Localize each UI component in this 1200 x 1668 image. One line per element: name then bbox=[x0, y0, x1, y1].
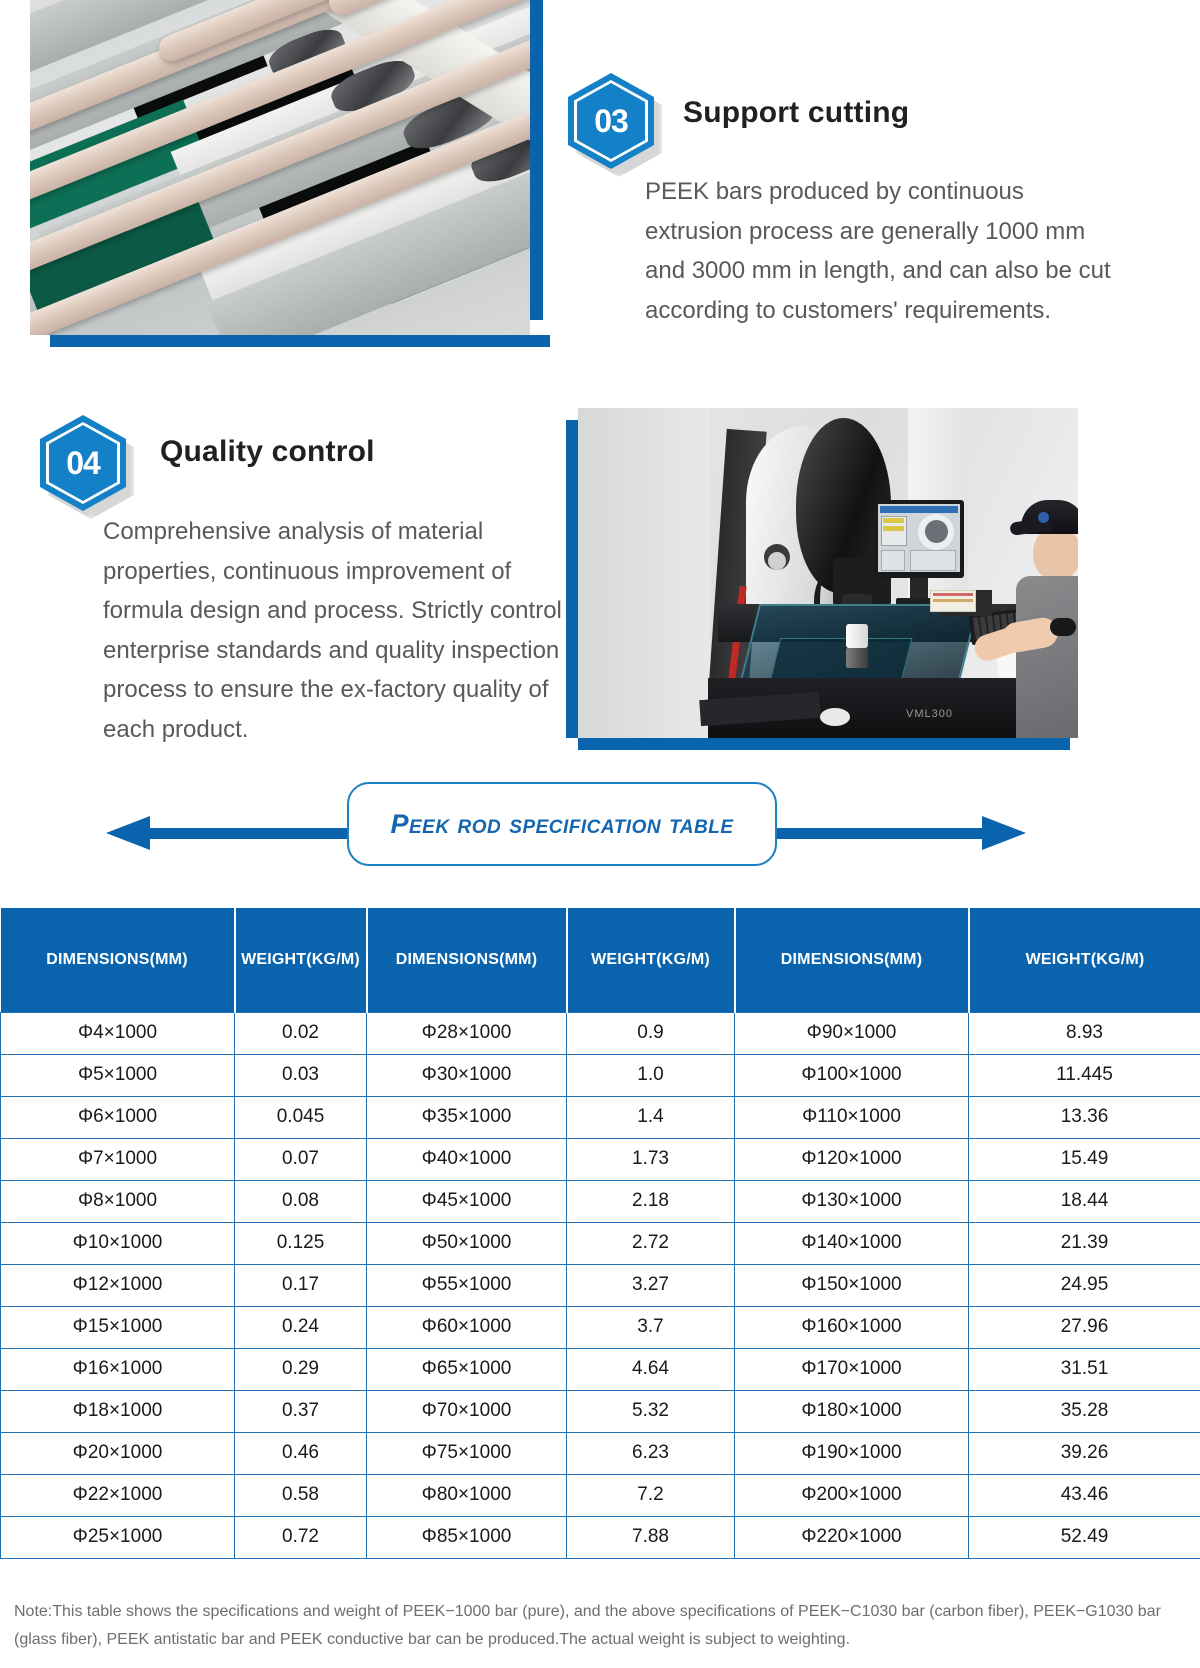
table-row: Φ4×10000.02Φ28×10000.9Φ90×10008.93 bbox=[1, 1012, 1200, 1054]
table-cell: 24.95 bbox=[969, 1264, 1200, 1306]
table-cell: 0.08 bbox=[235, 1180, 367, 1222]
table-cell: 0.24 bbox=[235, 1306, 367, 1348]
table-cell: Φ160×1000 bbox=[735, 1306, 969, 1348]
table-cell: Φ40×1000 bbox=[367, 1138, 567, 1180]
table-cell: 18.44 bbox=[969, 1180, 1200, 1222]
table-row: Φ15×10000.24Φ60×10003.7Φ160×100027.96 bbox=[1, 1306, 1200, 1348]
table-cell: 31.51 bbox=[969, 1348, 1200, 1390]
table-cell: Φ130×1000 bbox=[735, 1180, 969, 1222]
table-row: Φ20×10000.46Φ75×10006.23Φ190×100039.26 bbox=[1, 1432, 1200, 1474]
table-cell: Φ65×1000 bbox=[367, 1348, 567, 1390]
table-cell: Φ22×1000 bbox=[1, 1474, 235, 1516]
table-cell: 0.29 bbox=[235, 1348, 367, 1390]
table-cell: Φ200×1000 bbox=[735, 1474, 969, 1516]
table-header-cell: DIMENSIONS(MM) bbox=[1, 908, 235, 1012]
table-cell: Φ75×1000 bbox=[367, 1432, 567, 1474]
table-header-cell: WEIGHT(KG/M) bbox=[567, 908, 735, 1012]
peek-rods-photo-frame bbox=[30, 0, 530, 335]
table-cell: Φ8×1000 bbox=[1, 1180, 235, 1222]
table-row: Φ6×10000.045Φ35×10001.4Φ110×100013.36 bbox=[1, 1096, 1200, 1138]
table-cell: 43.46 bbox=[969, 1474, 1200, 1516]
table-cell: Φ100×1000 bbox=[735, 1054, 969, 1096]
table-cell: 7.2 bbox=[567, 1474, 735, 1516]
banner-pill: Peek rod specification table bbox=[347, 782, 777, 866]
table-header-cell: WEIGHT(KG/M) bbox=[969, 908, 1200, 1012]
table-cell: Φ28×1000 bbox=[367, 1012, 567, 1054]
table-cell: Φ20×1000 bbox=[1, 1432, 235, 1474]
table-cell: 39.26 bbox=[969, 1432, 1200, 1474]
table-cell: Φ25×1000 bbox=[1, 1516, 235, 1558]
banner-line-right bbox=[770, 828, 982, 839]
table-cell: Φ12×1000 bbox=[1, 1264, 235, 1306]
table-cell: Φ5×1000 bbox=[1, 1054, 235, 1096]
table-row: Φ16×10000.29Φ65×10004.64Φ170×100031.51 bbox=[1, 1348, 1200, 1390]
table-cell: 35.28 bbox=[969, 1390, 1200, 1432]
table-cell: Φ45×1000 bbox=[367, 1180, 567, 1222]
section-badge-04: 04 bbox=[40, 415, 126, 511]
table-cell: Φ85×1000 bbox=[367, 1516, 567, 1558]
table-cell: 2.72 bbox=[567, 1222, 735, 1264]
arrow-right-icon bbox=[982, 816, 1026, 850]
table-row: Φ5×10000.03Φ30×10001.0Φ100×100011.445 bbox=[1, 1054, 1200, 1096]
peek-rods-photo bbox=[30, 0, 530, 335]
table-cell: 8.93 bbox=[969, 1012, 1200, 1054]
table-cell: 0.125 bbox=[235, 1222, 367, 1264]
section-body-support-cutting: PEEK bars produced by continuous extrusi… bbox=[645, 172, 1120, 330]
table-cell: Φ140×1000 bbox=[735, 1222, 969, 1264]
table-cell: Φ10×1000 bbox=[1, 1222, 235, 1264]
table-cell: 0.46 bbox=[235, 1432, 367, 1474]
section-title-support-cutting: Support cutting bbox=[683, 96, 909, 130]
table-cell: Φ110×1000 bbox=[735, 1096, 969, 1138]
table-cell: 2.18 bbox=[567, 1180, 735, 1222]
table-cell: 13.36 bbox=[969, 1096, 1200, 1138]
table-cell: Φ70×1000 bbox=[367, 1390, 567, 1432]
table-row: Φ8×10000.08Φ45×10002.18Φ130×100018.44 bbox=[1, 1180, 1200, 1222]
banner-title: Peek rod specification table bbox=[390, 809, 733, 840]
table-cell: 1.4 bbox=[567, 1096, 735, 1138]
section-banner: Peek rod specification table bbox=[0, 782, 1200, 882]
table-cell: Φ170×1000 bbox=[735, 1348, 969, 1390]
arrow-left-icon bbox=[106, 816, 150, 850]
table-cell: 0.045 bbox=[235, 1096, 367, 1138]
photo2-bottom-accent-bar bbox=[578, 738, 1070, 750]
table-cell: Φ180×1000 bbox=[735, 1390, 969, 1432]
table-cell: Φ220×1000 bbox=[735, 1516, 969, 1558]
table-cell: Φ150×1000 bbox=[735, 1264, 969, 1306]
table-row: Φ7×10000.07Φ40×10001.73Φ120×100015.49 bbox=[1, 1138, 1200, 1180]
table-row: Φ18×10000.37Φ70×10005.32Φ180×100035.28 bbox=[1, 1390, 1200, 1432]
table-header-cell: DIMENSIONS(MM) bbox=[367, 908, 567, 1012]
table-cell: 4.64 bbox=[567, 1348, 735, 1390]
table-cell: 0.72 bbox=[235, 1516, 367, 1558]
table-cell: 0.9 bbox=[567, 1012, 735, 1054]
table-row: Φ25×10000.72Φ85×10007.88Φ220×100052.49 bbox=[1, 1516, 1200, 1558]
table-cell: Φ190×1000 bbox=[735, 1432, 969, 1474]
table-header-cell: WEIGHT(KG/M) bbox=[235, 908, 367, 1012]
table-cell: Φ4×1000 bbox=[1, 1012, 235, 1054]
table-cell: 0.58 bbox=[235, 1474, 367, 1516]
table-cell: Φ60×1000 bbox=[367, 1306, 567, 1348]
table-cell: 52.49 bbox=[969, 1516, 1200, 1558]
section-number-04: 04 bbox=[66, 447, 100, 479]
table-cell: Φ90×1000 bbox=[735, 1012, 969, 1054]
machine-model-label: VML300 bbox=[906, 708, 953, 720]
table-cell: Φ80×1000 bbox=[367, 1474, 567, 1516]
table-cell: Φ6×1000 bbox=[1, 1096, 235, 1138]
table-row: Φ10×10000.125Φ50×10002.72Φ140×100021.39 bbox=[1, 1222, 1200, 1264]
table-cell: 5.32 bbox=[567, 1390, 735, 1432]
inspection-photo: VML300 bbox=[578, 408, 1078, 738]
table-header-row: DIMENSIONS(MM) WEIGHT(KG/M) DIMENSIONS(M… bbox=[1, 908, 1200, 1012]
table-cell: Φ7×1000 bbox=[1, 1138, 235, 1180]
table-cell: Φ15×1000 bbox=[1, 1306, 235, 1348]
table-footnote: Note:This table shows the specifications… bbox=[14, 1598, 1190, 1654]
table-cell: 0.37 bbox=[235, 1390, 367, 1432]
table-cell: Φ18×1000 bbox=[1, 1390, 235, 1432]
table-cell: 6.23 bbox=[567, 1432, 735, 1474]
section-badge-03: 03 bbox=[568, 73, 654, 169]
section-title-quality-control: Quality control bbox=[160, 435, 375, 469]
table-cell: 11.445 bbox=[969, 1054, 1200, 1096]
table-header-cell: DIMENSIONS(MM) bbox=[735, 908, 969, 1012]
photo1-right-accent-bar bbox=[530, 0, 543, 320]
table-cell: 21.39 bbox=[969, 1222, 1200, 1264]
inspection-photo-frame: VML300 bbox=[578, 408, 1078, 738]
table-cell: 3.7 bbox=[567, 1306, 735, 1348]
section-body-quality-control: Comprehensive analysis of material prope… bbox=[103, 512, 563, 750]
photo1-bottom-accent-bar bbox=[50, 335, 550, 347]
table-cell: Φ120×1000 bbox=[735, 1138, 969, 1180]
section-number-03: 03 bbox=[594, 105, 628, 137]
table-cell: Φ50×1000 bbox=[367, 1222, 567, 1264]
photo2-left-accent-bar bbox=[566, 420, 578, 738]
table-cell: 3.27 bbox=[567, 1264, 735, 1306]
table-cell: Φ55×1000 bbox=[367, 1264, 567, 1306]
table-cell: Φ35×1000 bbox=[367, 1096, 567, 1138]
table-cell: 15.49 bbox=[969, 1138, 1200, 1180]
table-cell: 0.07 bbox=[235, 1138, 367, 1180]
table-cell: Φ30×1000 bbox=[367, 1054, 567, 1096]
table-cell: 0.02 bbox=[235, 1012, 367, 1054]
peek-rod-product-page: 03 Support cutting PEEK bars produced by… bbox=[0, 0, 1200, 1668]
table-cell: 1.73 bbox=[567, 1138, 735, 1180]
table-row: Φ22×10000.58Φ80×10007.2Φ200×100043.46 bbox=[1, 1474, 1200, 1516]
table-row: Φ12×10000.17Φ55×10003.27Φ150×100024.95 bbox=[1, 1264, 1200, 1306]
table-cell: Φ16×1000 bbox=[1, 1348, 235, 1390]
table-cell: 0.17 bbox=[235, 1264, 367, 1306]
peek-rod-specification-table: DIMENSIONS(MM) WEIGHT(KG/M) DIMENSIONS(M… bbox=[0, 908, 1200, 1559]
table-cell: 1.0 bbox=[567, 1054, 735, 1096]
table-cell: 7.88 bbox=[567, 1516, 735, 1558]
banner-line-left bbox=[148, 828, 360, 839]
table-cell: 27.96 bbox=[969, 1306, 1200, 1348]
table-cell: 0.03 bbox=[235, 1054, 367, 1096]
